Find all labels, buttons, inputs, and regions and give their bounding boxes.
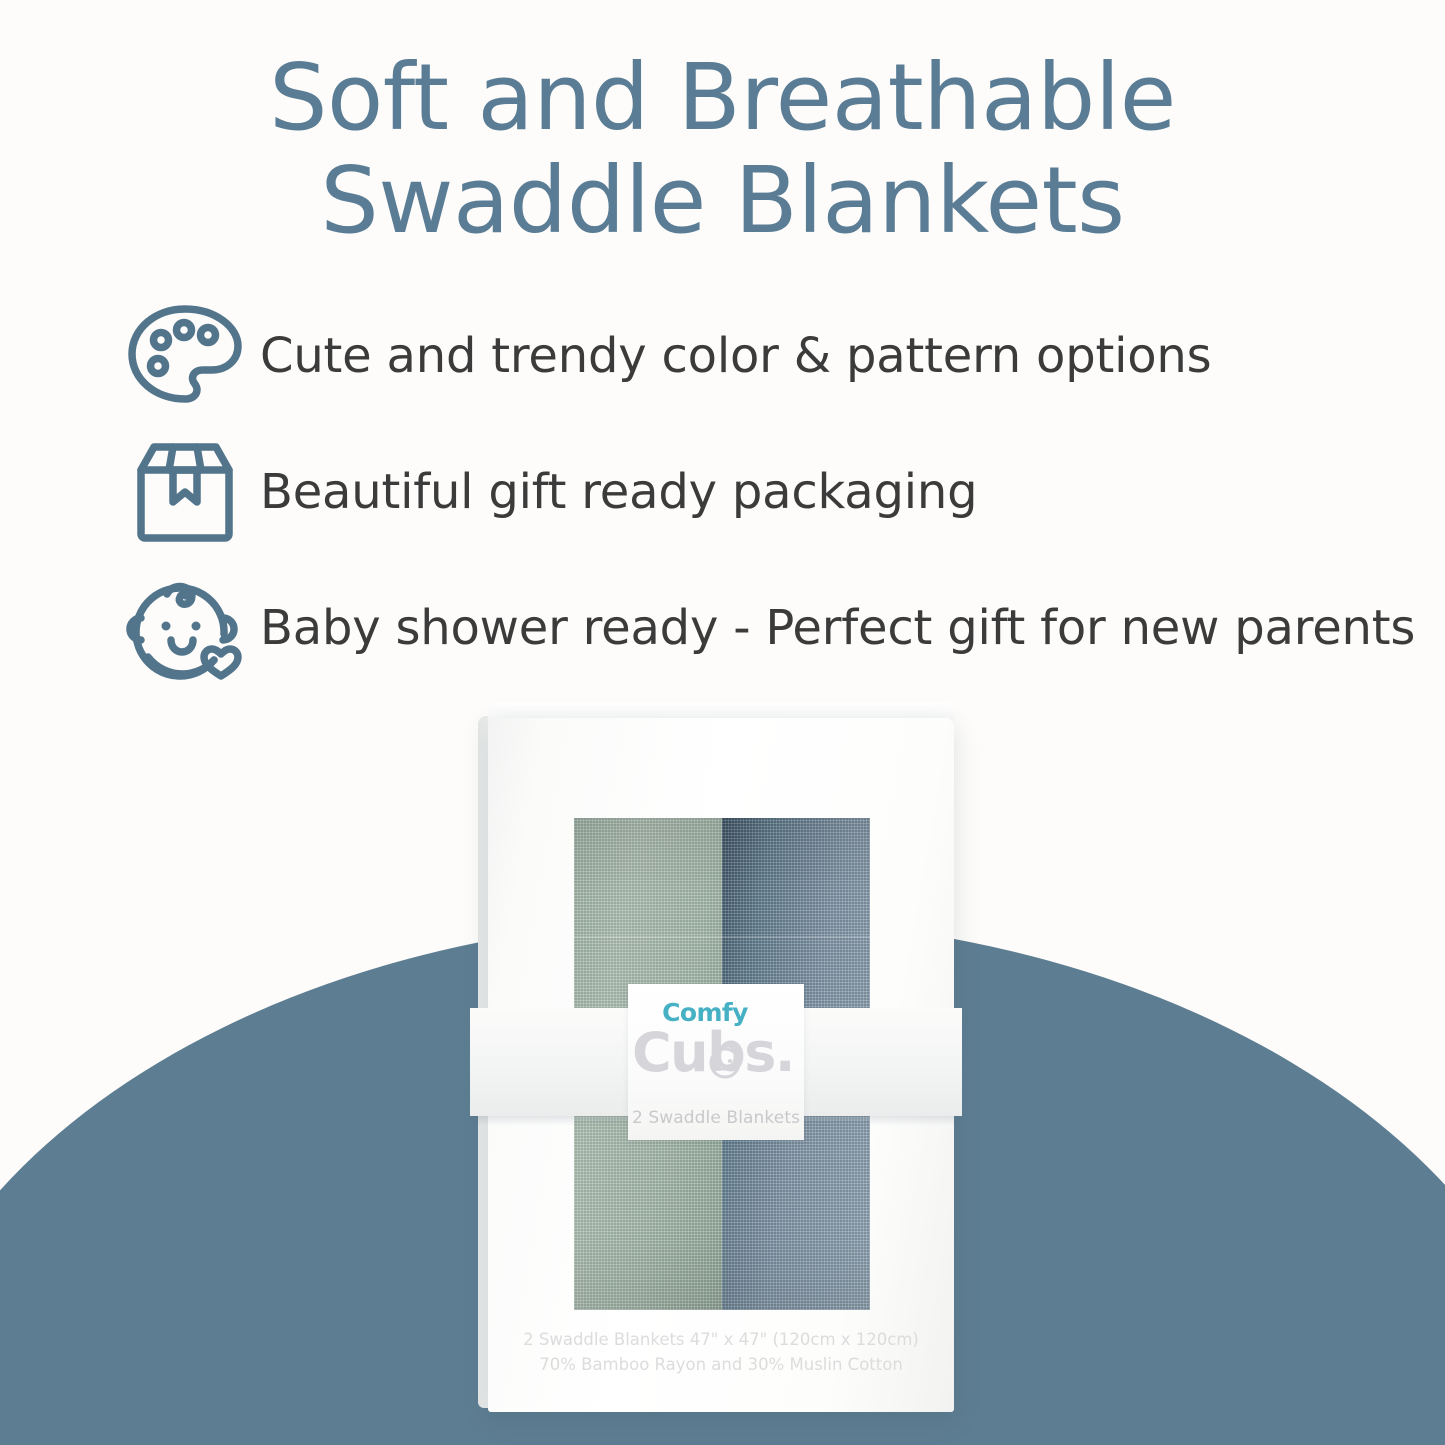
baby-face-icon <box>110 568 260 688</box>
spec-line-dimensions: 2 Swaddle Blankets 47" x 47" (120cm x 12… <box>488 1328 954 1353</box>
feature-item-baby-shower: Baby shower ready - Perfect gift for new… <box>110 560 1400 696</box>
baby-face-logo-icon <box>708 1047 742 1079</box>
product-infographic: Soft and Breathable Swaddle Blankets Cut… <box>0 0 1445 1445</box>
feature-item-color-options: Cute and trendy color & pattern options <box>110 288 1400 424</box>
feature-list: Cute and trendy color & pattern options … <box>110 288 1400 696</box>
gift-box-icon <box>110 432 260 552</box>
feature-label: Beautiful gift ready packaging <box>260 466 977 519</box>
feature-label: Baby shower ready - Perfect gift for new… <box>260 602 1415 655</box>
feature-item-gift-packaging: Beautiful gift ready packaging <box>110 424 1400 560</box>
package-spec-text: 2 Swaddle Blankets 47" x 47" (120cm x 12… <box>488 1328 954 1378</box>
brand-name-cubs-wrap: Cubs. <box>632 1025 794 1080</box>
palette-icon <box>110 296 260 416</box>
spec-line-material: 70% Bamboo Rayon and 30% Muslin Cotton <box>488 1353 954 1378</box>
brand-label-card: Comfy Cubs. 2 Swaddle Blankets <box>628 984 804 1140</box>
page-title: Soft and Breathable Swaddle Blankets <box>0 46 1445 252</box>
title-line-2: Swaddle Blankets <box>0 149 1445 252</box>
label-subtitle: 2 Swaddle Blankets <box>628 1108 804 1128</box>
title-line-1: Soft and Breathable <box>0 46 1445 149</box>
feature-label: Cute and trendy color & pattern options <box>260 330 1211 383</box>
product-package: Comfy Cubs. 2 Swaddle Blankets 2 Swaddle… <box>470 700 962 1412</box>
